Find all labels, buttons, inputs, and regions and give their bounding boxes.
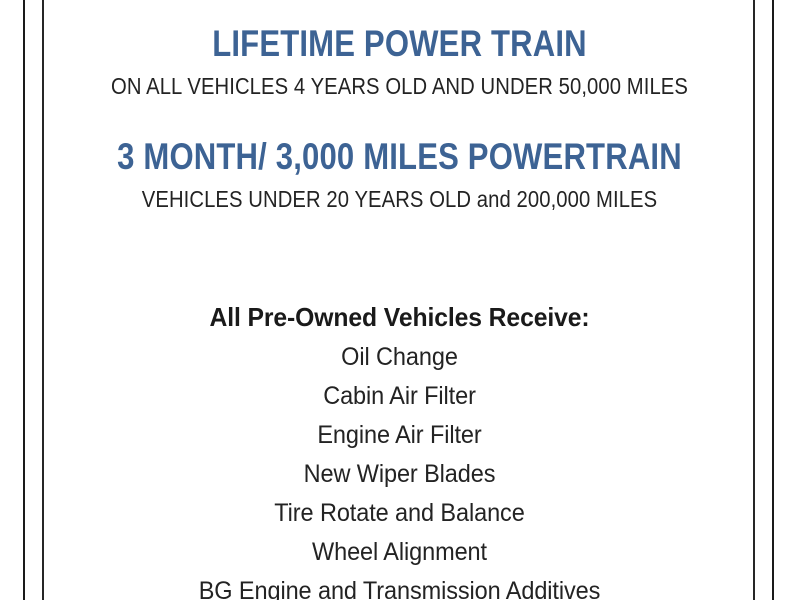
services-heading: All Pre-Owned Vehicles Receive: bbox=[64, 300, 736, 334]
warranty-eligibility-three-month: VEHICLES UNDER 20 YEARS OLD and 200,000 … bbox=[88, 184, 710, 214]
list-item: New Wiper Blades bbox=[67, 455, 732, 494]
warranty-flyer: LIFETIME POWER TRAIN ON ALL VEHICLES 4 Y… bbox=[0, 0, 800, 600]
flyer-content: LIFETIME POWER TRAIN ON ALL VEHICLES 4 Y… bbox=[46, 0, 753, 600]
frame-rule-right-inner bbox=[753, 0, 755, 600]
warranty-headline-lifetime: LIFETIME POWER TRAIN bbox=[103, 24, 697, 64]
warranty-eligibility-lifetime: ON ALL VEHICLES 4 YEARS OLD AND UNDER 50… bbox=[88, 71, 710, 101]
services-section: All Pre-Owned Vehicles Receive: Oil Chan… bbox=[46, 300, 753, 600]
services-list: Oil Change Cabin Air Filter Engine Air F… bbox=[46, 338, 753, 600]
list-item: Oil Change bbox=[67, 338, 732, 377]
list-item: BG Engine and Transmission Additives bbox=[67, 572, 732, 600]
list-item: Cabin Air Filter bbox=[67, 377, 732, 416]
warranty-headline-three-month: 3 MONTH/ 3,000 MILES POWERTRAIN bbox=[103, 137, 697, 177]
frame-rule-right-outer bbox=[772, 0, 774, 600]
frame-rule-left-inner bbox=[42, 0, 44, 600]
warranty-offer-three-month: 3 MONTH/ 3,000 MILES POWERTRAIN VEHICLES… bbox=[46, 137, 753, 214]
list-item: Wheel Alignment bbox=[67, 533, 732, 572]
warranty-offer-lifetime: LIFETIME POWER TRAIN ON ALL VEHICLES 4 Y… bbox=[46, 24, 753, 101]
list-item: Engine Air Filter bbox=[67, 416, 732, 455]
list-item: Tire Rotate and Balance bbox=[67, 494, 732, 533]
frame-rule-left-outer bbox=[23, 0, 25, 600]
